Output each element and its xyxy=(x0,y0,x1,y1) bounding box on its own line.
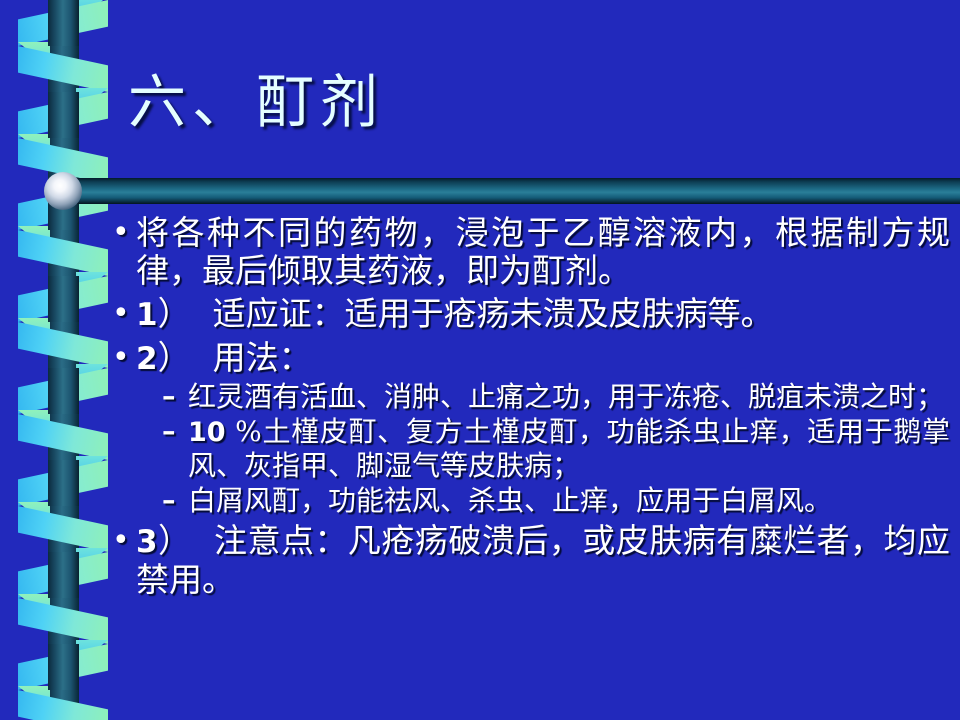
ribbon-pole-front xyxy=(48,0,79,46)
ribbon-pole-front xyxy=(48,276,79,322)
list-item-number: 10 xyxy=(188,417,226,448)
dash-bullet-icon: – xyxy=(162,380,188,413)
list-item-text: 红灵酒有活血、消肿、止痛之功，用于冻疮、脱疽未溃之时； xyxy=(188,380,950,413)
list-item-number-suffix: ） xyxy=(158,294,191,333)
dot-bullet-icon: • xyxy=(112,295,136,333)
list-item-text: 3）注意点：凡疮疡破溃后，或皮肤病有糜烂者，均应禁用。 xyxy=(136,522,950,599)
glow-orb-icon xyxy=(44,172,82,210)
list-item-body: 红灵酒有活血、消肿、止痛之功，用于冻疮、脱疽未溃之时； xyxy=(188,380,944,413)
list-item-text: 白屑风酊，功能祛风、杀虫、止痒，应用于白屑风。 xyxy=(188,484,950,517)
ribbon-pole-front xyxy=(48,368,79,414)
page-title: 六、酊剂 xyxy=(128,72,384,133)
ribbon-pole-front xyxy=(48,644,79,690)
list-item-body: 注意点：凡疮疡破溃后，或皮肤病有糜烂者，均应禁用。 xyxy=(136,521,950,599)
list-item: –白屑风酊，功能祛风、杀虫、止痒，应用于白屑风。 xyxy=(162,484,950,517)
list-item-text: 10 %土槿皮酊、复方土槿皮酊，功能杀虫止痒，适用于鹅掌风、灰指甲、脚湿气等皮肤… xyxy=(188,415,950,482)
list-item-body: 用法： xyxy=(213,338,312,377)
dash-bullet-icon: – xyxy=(162,415,188,448)
list-item-number: 2 xyxy=(136,341,158,377)
list-item-body: %土槿皮酊、复方土槿皮酊，功能杀虫止痒，适用于鹅掌风、灰指甲、脚湿气等皮肤病； xyxy=(188,415,950,482)
horizontal-divider-bar xyxy=(60,178,960,204)
list-item-number-suffix: ） xyxy=(158,338,191,377)
list-item-body: 适应证：适用于疮疡未溃及皮肤病等。 xyxy=(213,294,774,333)
presentation-slide: 六、酊剂 • 将各种不同的药物，浸泡于乙醇溶液内，根据制方规律，最后倾取其药液，… xyxy=(0,0,960,720)
list-item-text: 将各种不同的药物，浸泡于乙醇溶液内，根据制方规律，最后倾取其药液，即为酊剂。 xyxy=(136,214,950,290)
list-item-number-suffix xyxy=(226,415,236,448)
dot-bullet-icon: • xyxy=(112,214,136,252)
dot-bullet-icon: • xyxy=(112,339,136,377)
dash-bullet-icon: – xyxy=(162,484,188,517)
list-item: –红灵酒有活血、消肿、止痛之功，用于冻疮、脱疽未溃之时； xyxy=(162,380,950,413)
list-item-text: 1）适应证：适用于疮疡未溃及皮肤病等。 xyxy=(136,295,950,334)
list-item: –10 %土槿皮酊、复方土槿皮酊，功能杀虫止痒，适用于鹅掌风、灰指甲、脚湿气等皮… xyxy=(162,415,950,482)
ribbon-pole-front xyxy=(48,460,79,506)
ribbon-pole-front xyxy=(48,92,79,138)
list-item: •1）适应证：适用于疮疡未溃及皮肤病等。 xyxy=(112,295,950,334)
list-item-body: 白屑风酊，功能祛风、杀虫、止痒，应用于白屑风。 xyxy=(188,484,832,517)
list-item: •3）注意点：凡疮疡破溃后，或皮肤病有糜烂者，均应禁用。 xyxy=(112,522,950,599)
ribbon-pole-front xyxy=(48,552,79,598)
list-item-body: 将各种不同的药物，浸泡于乙醇溶液内，根据制方规律，最后倾取其药液，即为酊剂。 xyxy=(136,213,950,290)
dot-bullet-icon: • xyxy=(112,522,136,560)
list-item: • 将各种不同的药物，浸泡于乙醇溶液内，根据制方规律，最后倾取其药液，即为酊剂。 xyxy=(112,214,950,290)
list-item-number: 1 xyxy=(136,297,158,333)
bullet-list: • 将各种不同的药物，浸泡于乙醇溶液内，根据制方规律，最后倾取其药液，即为酊剂。… xyxy=(112,214,950,601)
list-item-text: 2）用法： xyxy=(136,339,950,378)
list-item: •2）用法： xyxy=(112,339,950,378)
list-item-number: 3 xyxy=(136,524,158,560)
list-item-number-suffix: ） xyxy=(158,521,192,560)
twisted-ribbon-helix-decoration xyxy=(0,0,120,720)
